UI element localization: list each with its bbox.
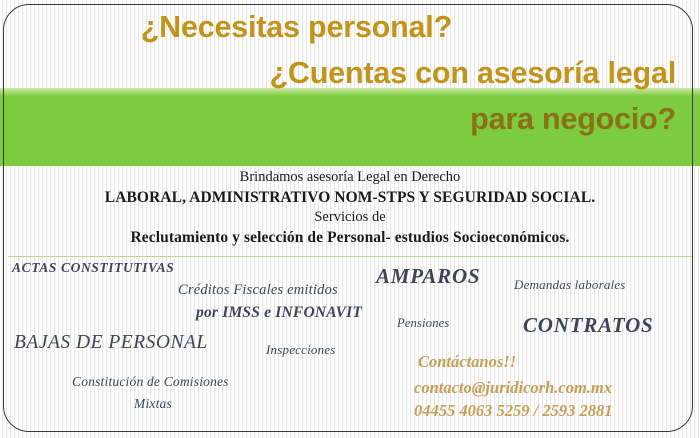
service-keyword: por IMSS e INFONAVIT — [196, 304, 362, 322]
service-keyword: ACTAS CONSTITUTIVAS — [12, 260, 174, 276]
contact-phone[interactable]: 04455 4063 5259 / 2593 2881 — [414, 401, 612, 421]
flyer-canvas: ¿Necesitas personal? ¿Cuentas con asesor… — [0, 0, 700, 438]
description-line-2: LABORAL, ADMINISTRATIVO NOM-STPS Y SEGUR… — [0, 187, 700, 208]
headline-line-1: ¿Necesitas personal? — [0, 12, 452, 44]
service-keyword: Constitución de Comisiones — [72, 374, 229, 390]
contact-email[interactable]: contacto@juridicorh.com.mx — [414, 378, 612, 398]
service-keyword: BAJAS DE PERSONAL — [14, 332, 208, 354]
headline-line-3: para negocio? — [0, 104, 676, 136]
description-block: Brindamos asesoría Legal en Derecho LABO… — [0, 168, 700, 248]
description-line-4: Reclutamiento y selección de Personal- e… — [0, 227, 700, 248]
contact-cta: Contáctanos!! — [418, 352, 516, 372]
service-keyword: Mixtas — [134, 396, 172, 412]
service-keyword: Pensiones — [397, 316, 449, 331]
service-keyword: Créditos Fiscales emitidos — [178, 282, 338, 299]
description-line-1: Brindamos asesoría Legal en Derecho — [0, 168, 700, 187]
description-line-3: Servicios de — [0, 208, 700, 227]
service-keyword: Inspecciones — [266, 342, 336, 358]
service-keyword: AMPAROS — [376, 264, 480, 289]
headline-line-2: ¿Cuentas con asesoría legal — [0, 58, 676, 90]
service-keyword: Demandas laborales — [514, 277, 626, 293]
service-keyword: CONTRATOS — [523, 313, 654, 338]
